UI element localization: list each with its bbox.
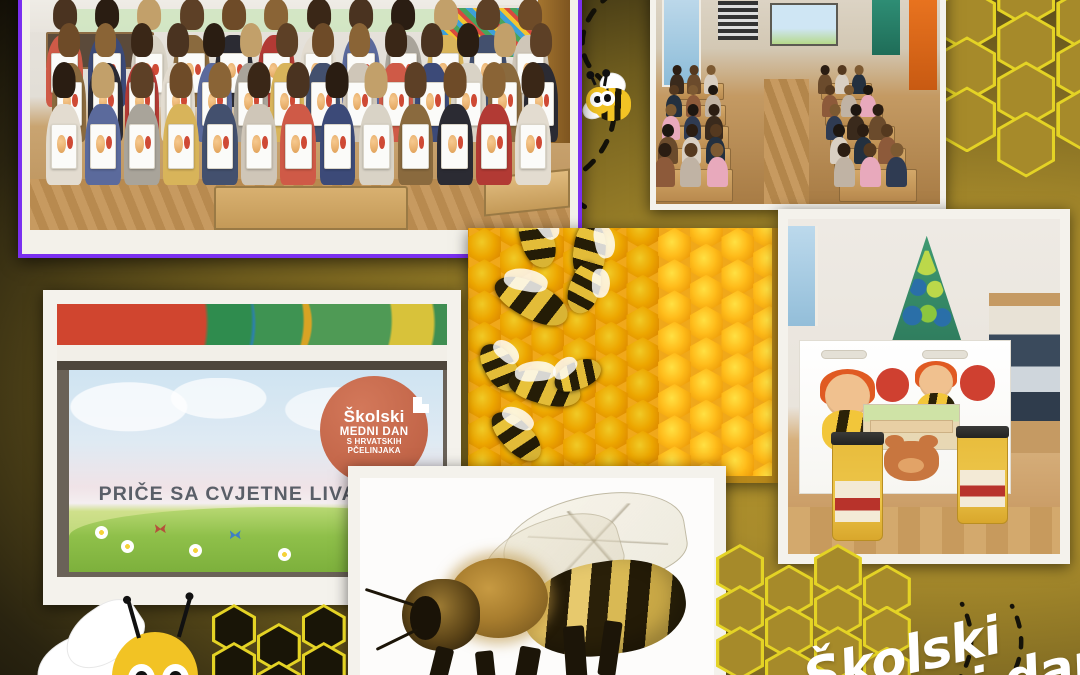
bee-antenna-left: [590, 76, 597, 87]
pupil-head: [710, 124, 722, 137]
honey-jars-image: [788, 219, 1060, 554]
pupil-head: [821, 65, 830, 75]
honeycomb-cell: [997, 112, 1055, 178]
logo-line-1: Školski: [344, 408, 405, 425]
honey-jar-right: [957, 433, 1009, 523]
pupil-head: [666, 104, 677, 116]
honeycomb-macro-cell: [753, 462, 772, 476]
logo-pixel-mark: [413, 397, 422, 406]
honeycomb-macro-cell: [721, 446, 754, 476]
pupil-hair: [52, 62, 75, 98]
honey-jars-display-photo: [778, 209, 1070, 564]
pupil-figure: [359, 104, 395, 185]
pupil-hair: [287, 62, 310, 98]
pupil-head: [687, 104, 698, 116]
class-group-photo: [18, 0, 582, 258]
pupil-figure: [46, 104, 82, 185]
honeycomb-cell: [1056, 86, 1080, 152]
honeycomb-macro-cell: [753, 368, 772, 405]
pupil-hair: [95, 23, 117, 57]
pupil-head: [709, 104, 720, 116]
honeycomb-cluster-top-right: [952, 0, 1080, 220]
classroom-image: [656, 0, 940, 204]
pupil-hair: [204, 23, 226, 57]
pupil-figure: [202, 104, 238, 185]
honeycomb-cluster-bottom-left: [208, 598, 358, 675]
classroom-pupil: [707, 157, 728, 187]
pupil-hair: [521, 62, 544, 98]
pupil-figure: [320, 104, 356, 185]
red-badge-right: [960, 365, 996, 401]
gift-bag-card: [207, 124, 233, 170]
gift-bag-card: [51, 124, 77, 170]
gift-bag-card: [520, 124, 546, 170]
pupil-head: [855, 65, 864, 75]
gift-bag-card: [481, 124, 507, 170]
gift-bag-card: [168, 124, 194, 170]
honeycomb-bees-photo: [468, 228, 778, 483]
honeycomb-macro-cell: [753, 431, 772, 468]
pupil-head: [838, 65, 847, 75]
pupil-head: [833, 124, 845, 137]
pupil-hair: [240, 23, 262, 57]
pupil-hair: [385, 23, 407, 57]
slide-title: PRIČE SA CVJETNE LIVADE: [99, 483, 387, 506]
pupil-hair: [365, 62, 388, 98]
pupil-figure: [241, 104, 277, 185]
pupil-hair: [458, 23, 480, 57]
pupil-hair: [58, 23, 80, 57]
honeycomb-cell: [938, 86, 996, 152]
classroom-pupil: [860, 157, 881, 187]
classroom-pupil: [886, 157, 907, 187]
pupil-head: [707, 65, 716, 75]
gift-bag-card: [129, 124, 155, 170]
logo-line-4: PČELINJAKA: [348, 447, 401, 455]
pupil-hair: [222, 0, 246, 30]
classroom-pupil: [680, 157, 701, 187]
pupil-head: [825, 85, 835, 96]
honey-bee-image: [360, 478, 714, 675]
cartoon-bee-top: [578, 72, 644, 130]
pupil-head: [686, 124, 698, 137]
pupil-hair: [167, 23, 189, 57]
gift-bag-card: [90, 124, 116, 170]
pupil-head: [662, 124, 674, 137]
pupil-hair: [91, 62, 114, 98]
bear-mascot: [884, 441, 939, 481]
honeycomb-cell: [716, 626, 764, 675]
pupil-figure: [398, 104, 434, 185]
honey-jar-left: [832, 440, 884, 541]
pupil-hair: [421, 23, 443, 57]
gift-bag-card: [402, 124, 428, 170]
gift-bag-card: [363, 124, 389, 170]
pupil-figure: [515, 104, 551, 185]
classroom-presentation-photo: [650, 0, 946, 210]
pupil-hair: [276, 23, 298, 57]
pupil-hair: [349, 23, 371, 57]
pupil-figure: [163, 104, 199, 185]
pupil-hair: [312, 23, 334, 57]
pupil-hair: [209, 62, 232, 98]
bee-eye-right: [600, 91, 615, 106]
honeycomb-cell: [302, 642, 346, 675]
pupil-hair: [131, 62, 154, 98]
pupil-hair: [494, 23, 516, 57]
pupil-hair: [326, 62, 349, 98]
classroom-pupil: [834, 157, 855, 187]
pupil-head: [690, 65, 699, 75]
pupil-head: [844, 85, 854, 96]
gift-bag-card: [441, 124, 467, 170]
pupil-figure: [476, 104, 512, 185]
collage-canvas: Školski MEDNI DAN S HRVATSKIH PČELINJAKA…: [0, 0, 1080, 675]
bee-antenna-big-right: [177, 597, 192, 637]
pupil-figure: [437, 104, 473, 185]
pupil-head: [689, 85, 699, 96]
pupil-head: [708, 85, 718, 96]
pupil-hair: [170, 62, 193, 98]
pupil-hair: [530, 23, 552, 57]
pupil-head: [851, 104, 862, 116]
gift-bag-card: [246, 124, 272, 170]
honeycomb-macro-cell: [753, 275, 772, 312]
honeycomb-macro-cell: [753, 337, 772, 374]
pupil-hair: [248, 62, 271, 98]
pupil-figure: [280, 104, 316, 185]
honey-bee-closeup-photo: [348, 466, 726, 675]
classroom-pupil: [656, 157, 675, 187]
pupil-head: [881, 124, 893, 137]
pupil-hair: [443, 62, 466, 98]
honeycomb-macro-cell: [753, 400, 772, 437]
pupil-head: [872, 104, 883, 116]
class-group-image: [30, 0, 570, 230]
pupil-head: [673, 65, 682, 75]
pupil-hair: [404, 62, 427, 98]
pupil-head: [857, 124, 869, 137]
gift-bag-card: [324, 124, 350, 170]
cartoon-bee-bottom-left: [40, 596, 220, 675]
pupil-hair: [131, 23, 153, 57]
pupil-figure: [85, 104, 121, 185]
red-badge-left: [876, 368, 910, 402]
gift-bag-card: [285, 124, 311, 170]
pupil-hair: [482, 62, 505, 98]
pupil-head: [829, 104, 840, 116]
pupil-head: [669, 85, 679, 96]
pupil-hair: [476, 0, 500, 30]
honeycomb-macro-cell: [753, 244, 772, 281]
honeycomb-image: [468, 228, 772, 476]
pupil-figure: [124, 104, 160, 185]
pupil-head: [863, 85, 873, 96]
